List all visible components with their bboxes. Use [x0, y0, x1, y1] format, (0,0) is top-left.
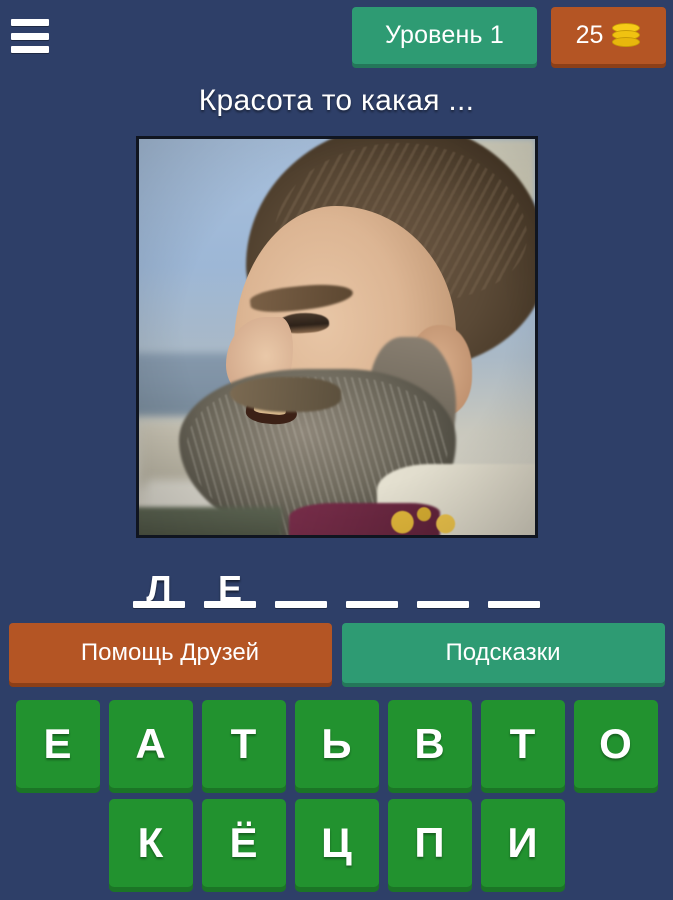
puzzle-image-content — [139, 139, 535, 535]
top-bar: Уровень 1 25 — [0, 0, 673, 70]
answer-slot[interactable] — [414, 556, 472, 608]
answer-slot[interactable] — [272, 556, 330, 608]
game-screen: Уровень 1 25 Красота то какая ... — [0, 0, 673, 900]
letter-key[interactable]: Т — [481, 700, 565, 788]
answer-slots: Л Е — [0, 556, 673, 608]
letter-key[interactable]: А — [109, 700, 193, 788]
coins-count: 25 — [576, 21, 604, 50]
answer-slot[interactable] — [343, 556, 401, 608]
letter-keyboard-row: К Ё Ц П И — [0, 799, 673, 887]
question-title: Красота то какая ... — [0, 84, 673, 118]
help-buttons: Помощь Друзей Подсказки — [0, 623, 673, 687]
answer-slot[interactable]: Е — [201, 556, 259, 608]
hints-button[interactable]: Подсказки — [342, 623, 665, 683]
image-vignette — [139, 139, 535, 535]
hamburger-bar — [11, 33, 49, 40]
level-button[interactable]: Уровень 1 — [352, 7, 537, 64]
letter-key[interactable]: К — [109, 799, 193, 887]
answer-slot[interactable]: Л — [130, 556, 188, 608]
letter-key[interactable]: О — [574, 700, 658, 788]
help-friends-label: Помощь Друзей — [81, 639, 259, 667]
hints-label: Подсказки — [445, 639, 560, 667]
answer-slot-letter: Е — [218, 570, 242, 608]
puzzle-image — [136, 136, 538, 538]
letter-key[interactable]: Е — [16, 700, 100, 788]
letter-key[interactable]: Ё — [202, 799, 286, 887]
hamburger-bar — [11, 46, 49, 53]
answer-slot-letter: Л — [146, 570, 171, 608]
answer-slot[interactable] — [485, 556, 543, 608]
letter-key[interactable]: П — [388, 799, 472, 887]
hamburger-menu-icon[interactable] — [11, 19, 49, 53]
letter-keyboard-row: Е А Т Ь В Т О — [0, 700, 673, 788]
letter-key[interactable]: В — [388, 700, 472, 788]
letter-key[interactable]: Ь — [295, 700, 379, 788]
letter-keyboard: Е А Т Ь В Т О К Ё Ц П И — [0, 700, 673, 898]
coin-stack-icon — [611, 23, 641, 49]
level-label: Уровень 1 — [385, 21, 504, 50]
letter-key[interactable]: Т — [202, 700, 286, 788]
help-friends-button[interactable]: Помощь Друзей — [9, 623, 332, 683]
letter-key[interactable]: И — [481, 799, 565, 887]
coins-button[interactable]: 25 — [551, 7, 666, 64]
letter-key[interactable]: Ц — [295, 799, 379, 887]
hamburger-bar — [11, 19, 49, 26]
